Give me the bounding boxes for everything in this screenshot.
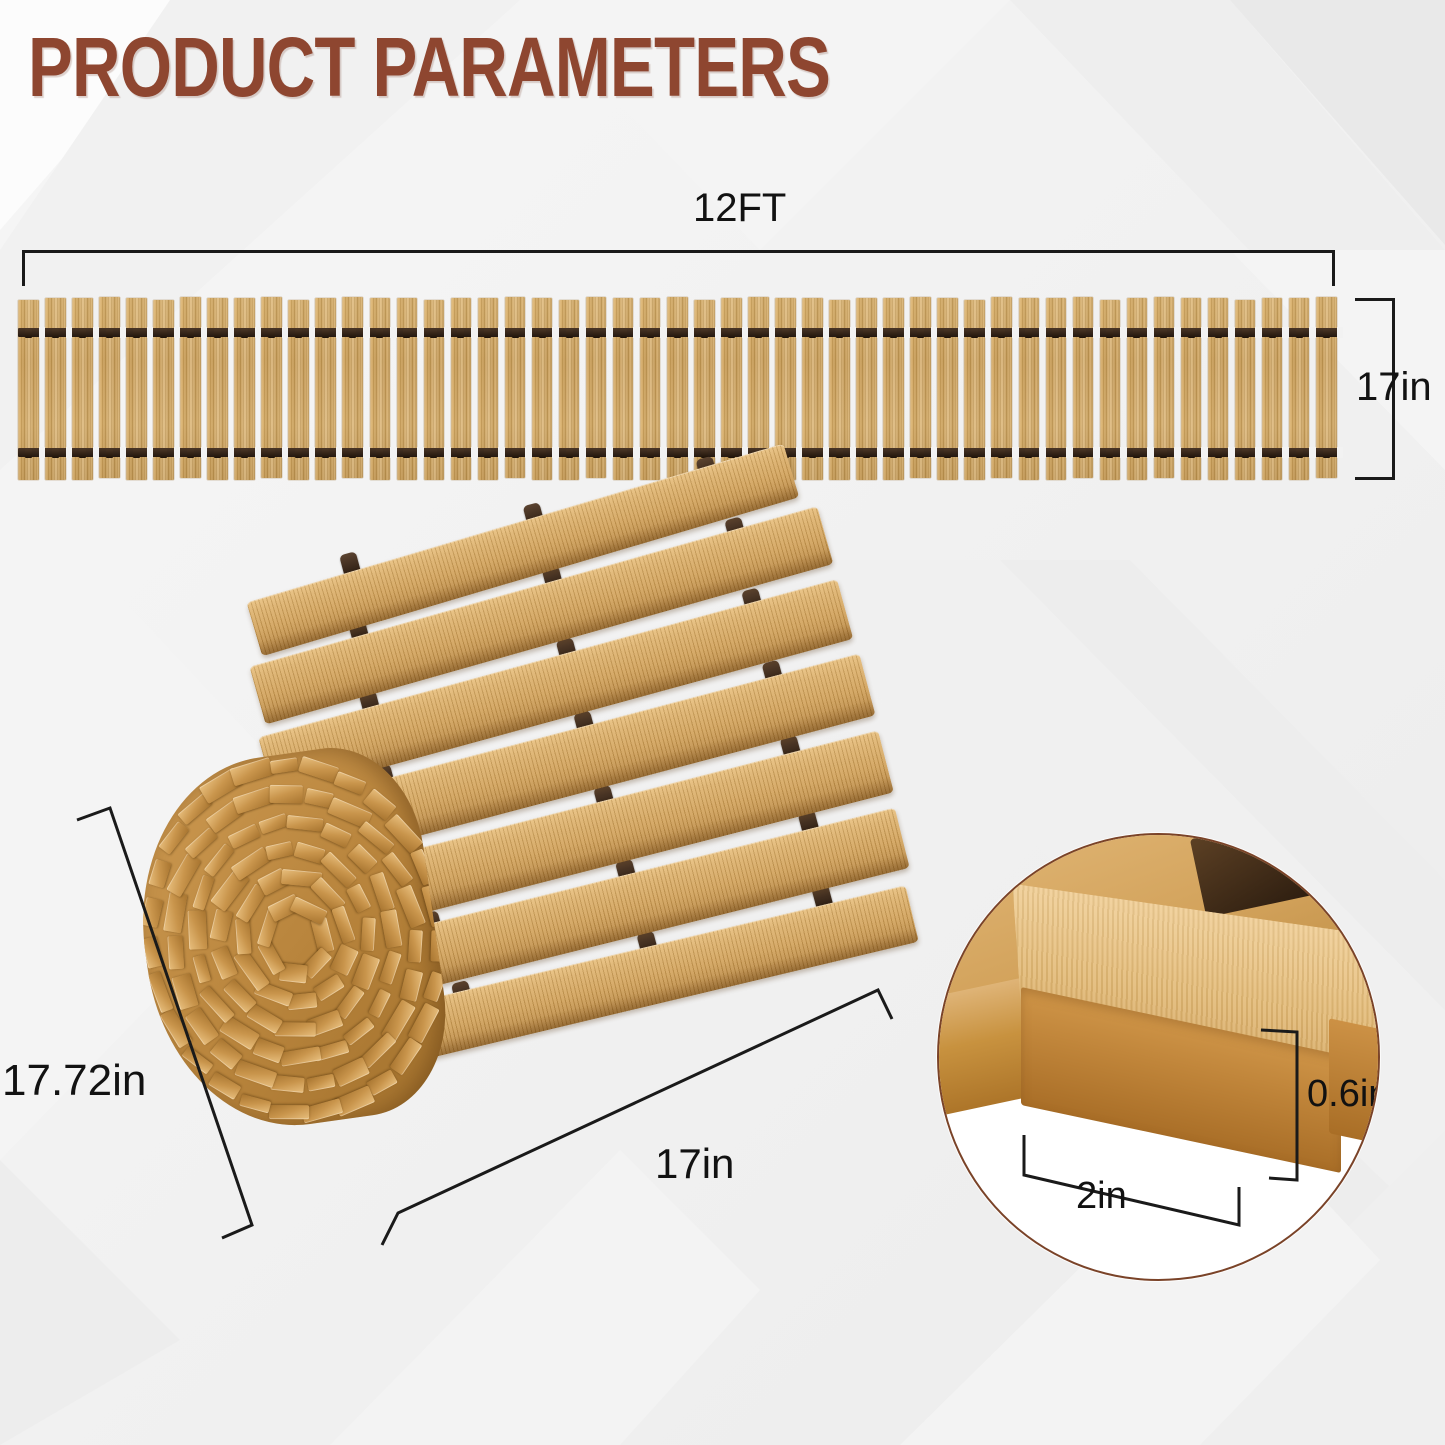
detail-inset-circle: 0.6in 2in [937, 833, 1380, 1281]
slat-connector-nub [1188, 449, 1195, 458]
slat-connector-nub [214, 329, 221, 338]
roll-height-label: 17.72in [2, 1056, 146, 1106]
spiral-slat-end [182, 1046, 214, 1075]
strap-gap [120, 327, 126, 338]
slat-thickness-dimension [939, 835, 1380, 1281]
strap-gap [201, 447, 207, 458]
slat-connector-nub [187, 449, 194, 458]
strap-gap [66, 327, 72, 338]
slat-connector-nub [1160, 449, 1167, 458]
strap-gap [904, 327, 910, 338]
spiral-slat-end [258, 813, 289, 835]
strap-gap [417, 447, 423, 458]
strap-gap [660, 327, 666, 338]
spiral-slat-end [304, 788, 333, 808]
slat-connector-nub [1296, 329, 1303, 338]
slat-connector-nub [1052, 329, 1059, 338]
slat-connector-nub [971, 329, 978, 338]
flat-mat-graphic [18, 298, 1343, 480]
spiral-slat-end [184, 827, 217, 858]
slat-connector-nub [593, 329, 600, 338]
slat-connector-nub [106, 329, 113, 338]
spiral-slat-end [233, 786, 275, 815]
strap-gap [742, 327, 748, 338]
slat-connector-nub [1079, 449, 1086, 458]
slat-connector-nub [512, 329, 519, 338]
spiral-slat-end [333, 1056, 370, 1086]
strap-gap [850, 447, 856, 458]
slat-connector-nub [79, 329, 86, 338]
slat-connector-nub [539, 449, 546, 458]
strap-gap [633, 447, 639, 458]
strap-gap [1228, 447, 1234, 458]
mat-length-tick-right [1332, 250, 1335, 286]
slat-connector-nub [809, 449, 816, 458]
strap-gap [282, 327, 288, 338]
strap-gap [498, 447, 504, 458]
strap-gap [606, 327, 612, 338]
slat-connector-nub [1160, 329, 1167, 338]
strap-gap [201, 327, 207, 338]
strap-gap [471, 447, 477, 458]
strap-gap [498, 327, 504, 338]
spiral-slat-end [347, 884, 372, 914]
slat-connector-nub [295, 449, 302, 458]
strap-gap [688, 447, 694, 458]
spiral-slat-end [289, 896, 327, 925]
slat-connector-nub [457, 329, 464, 338]
strap-gap [363, 447, 369, 458]
spiral-slat-end [167, 936, 184, 969]
slat-connector-nub [755, 329, 762, 338]
strap-gap [363, 327, 369, 338]
slat-connector-nub [890, 329, 897, 338]
slat-connector-nub [79, 449, 86, 458]
slat-connector-nub [1242, 449, 1249, 458]
strap-gap [579, 447, 585, 458]
spiral-slat-end [369, 871, 395, 911]
strap-gap [579, 327, 585, 338]
strap-gap [985, 327, 991, 338]
slat-connector-nub [133, 449, 140, 458]
spiral-slat-end [163, 892, 188, 933]
slat-connector-nub [52, 449, 59, 458]
strap-gap [309, 447, 315, 458]
strap-gap [255, 327, 261, 338]
slat-connector-nub [566, 449, 573, 458]
strap-gap [1120, 447, 1126, 458]
slat-connector-nub [322, 449, 329, 458]
mat-length-dimension-line [22, 250, 1335, 253]
slat-connector-nub [674, 449, 681, 458]
strap-gap [1201, 327, 1207, 338]
spiral-slat-end [148, 858, 171, 888]
strap-gap [228, 447, 234, 458]
spiral-slat-end [234, 1060, 277, 1088]
strap-gap [633, 327, 639, 338]
strap-gap [1147, 447, 1153, 458]
strap-gap [1039, 327, 1045, 338]
spiral-slat-end [368, 988, 391, 1018]
strap-gap [1093, 447, 1099, 458]
strap-gap [1120, 327, 1126, 338]
spiral-slat-end [240, 1093, 272, 1113]
strap-gap [336, 327, 342, 338]
slat-connector-nub [512, 449, 519, 458]
slat-connector-nub [133, 329, 140, 338]
slat-connector-nub [457, 449, 464, 458]
slat-connector-nub [187, 329, 194, 338]
strap-gap [715, 327, 721, 338]
slat-connector-nub [1323, 449, 1330, 458]
spiral-slat-end [209, 909, 233, 942]
strap-gap [525, 327, 531, 338]
strap-gap [471, 327, 477, 338]
strap-gap [309, 327, 315, 338]
slat-connector-nub [890, 449, 897, 458]
strap-gap [1228, 327, 1234, 338]
slat-connector-nub [1052, 449, 1059, 458]
spiral-slat-end [142, 936, 163, 968]
slat-connector-nub [674, 329, 681, 338]
slat-connector-nub [376, 329, 383, 338]
slat-connector-nub [782, 329, 789, 338]
slat-connector-nub [1079, 329, 1086, 338]
spiral-slat-end [148, 971, 174, 1013]
strap-gap [1093, 327, 1099, 338]
spiral-slat-end [268, 1105, 308, 1120]
strap-gap [147, 327, 153, 338]
strap-gap [688, 327, 694, 338]
slat-connector-nub [268, 449, 275, 458]
strap-gap [120, 447, 126, 458]
spiral-slat-end [298, 756, 339, 783]
mat-length-label: 12FT [693, 186, 786, 231]
slat-connector-nub [214, 449, 221, 458]
strap-gap [336, 447, 342, 458]
strap-gap [1309, 447, 1315, 458]
page-title-wrap: PRODUCT PARAMETERS [28, 28, 1030, 108]
slat-connector-nub [836, 329, 843, 338]
strap-gap [282, 447, 288, 458]
slat-connector-nub [944, 329, 951, 338]
spiral-slat-end [320, 823, 352, 849]
slat-connector-nub [25, 449, 32, 458]
spiral-slat-end [335, 986, 365, 1020]
slat-connector-nub [620, 449, 627, 458]
slat-thickness-label: 0.6in [1307, 1073, 1380, 1116]
spiral-slat-end [141, 897, 164, 928]
strap-gap [93, 447, 99, 458]
mat-length-tick-left [22, 250, 25, 286]
slat-connector-nub [376, 449, 383, 458]
strap-gap [390, 327, 396, 338]
slat-connector-nub [944, 449, 951, 458]
spiral-slat-end [269, 784, 302, 803]
strap-gap [93, 327, 99, 338]
slat-connector-nub [1242, 329, 1249, 338]
strap-gap [931, 447, 937, 458]
spiral-slat-end [193, 954, 212, 984]
slat-connector-nub [863, 449, 870, 458]
strap-gap [1282, 447, 1288, 458]
strap-gap [39, 327, 45, 338]
slat-connector-nub [430, 329, 437, 338]
spiral-slat-end [230, 757, 274, 786]
strap-gap [1201, 447, 1207, 458]
slat-connector-nub [620, 329, 627, 338]
spiral-slat-end [166, 853, 201, 897]
strap-gap [525, 447, 531, 458]
slat-connector-nub [349, 449, 356, 458]
spiral-slat-end [227, 823, 260, 848]
slat-connector-nub [1106, 329, 1113, 338]
strap-gap [147, 447, 153, 458]
strap-gap [823, 447, 829, 458]
strap-gap [444, 327, 450, 338]
slat-connector-nub [998, 449, 1005, 458]
strap-gap [1309, 327, 1315, 338]
slat-connector-nub [1106, 449, 1113, 458]
slat-connector-nub [403, 449, 410, 458]
spiral-slat-end [192, 875, 214, 911]
slat-connector-nub [484, 329, 491, 338]
strap-gap [1174, 447, 1180, 458]
page-title: PRODUCT PARAMETERS [28, 28, 830, 108]
spiral-slat-end [265, 841, 294, 861]
mat-width-tick-bottom [1355, 477, 1395, 480]
strap-gap [1147, 327, 1153, 338]
spiral-slat-end [333, 771, 367, 796]
rolled-mat-figure [135, 570, 925, 1210]
slat-connector-nub [566, 329, 573, 338]
slat-connector-nub [430, 449, 437, 458]
strap-gap [444, 447, 450, 458]
spiral-slat-end [306, 1074, 335, 1092]
spiral-slat-end [211, 946, 238, 980]
strap-gap [174, 447, 180, 458]
slat-connector-nub [971, 449, 978, 458]
mat-width-tick-top [1355, 298, 1395, 301]
slat-connector-nub [403, 329, 410, 338]
strap-gap [228, 327, 234, 338]
spiral-slat-end [270, 757, 299, 774]
slat-width-label: 2in [1076, 1175, 1127, 1218]
slat-connector-nub [863, 329, 870, 338]
strap-gap [1282, 327, 1288, 338]
spiral-slat-end [408, 929, 423, 962]
slat-connector-nub [701, 329, 708, 338]
slat-connector-nub [1215, 329, 1222, 338]
strap-gap [1174, 327, 1180, 338]
strap-gap [1012, 327, 1018, 338]
strap-gap [1066, 327, 1072, 338]
slat-connector-nub [1025, 449, 1032, 458]
spiral-slat-end [332, 905, 356, 944]
slat-connector-nub [836, 449, 843, 458]
spiral-slat-end [362, 918, 377, 952]
slat-connector-nub [1269, 329, 1276, 338]
slat-connector-nub [917, 329, 924, 338]
slat-connector-nub [809, 329, 816, 338]
slat-connector-nub [728, 449, 735, 458]
slat-connector-nub [295, 329, 302, 338]
slat-connector-nub [484, 449, 491, 458]
slat-connector-nub [998, 329, 1005, 338]
strap-gap [823, 327, 829, 338]
slat-connector-nub [106, 449, 113, 458]
spiral-slat-end [171, 972, 198, 1009]
spiral-slat-end [188, 910, 208, 950]
strap-gap [255, 447, 261, 458]
strap-gap [850, 327, 856, 338]
spiral-slat-end [204, 843, 235, 877]
slat-connector-nub [539, 329, 546, 338]
strap-gap [390, 447, 396, 458]
slat-connector-nub [728, 329, 735, 338]
spiral-slat-end [380, 951, 402, 985]
slat-connector-nub [241, 329, 248, 338]
strap-gap [66, 447, 72, 458]
slat-connector-nub [1025, 329, 1032, 338]
strap-gap [1012, 447, 1018, 458]
slat-connector-nub [268, 329, 275, 338]
strap-gap [769, 327, 775, 338]
strap-gap [660, 447, 666, 458]
mat-width-label: 17in [1356, 365, 1432, 410]
slat-connector-nub [52, 329, 59, 338]
spiral-slat-end [343, 1017, 375, 1046]
strap-gap [958, 327, 964, 338]
slat-connector-nub [1133, 329, 1140, 338]
spiral-slat-end [235, 918, 252, 954]
slat-connector-nub [322, 329, 329, 338]
strap-gap [931, 327, 937, 338]
strap-gap [1255, 327, 1261, 338]
spiral-slat-end [313, 974, 345, 1002]
slat-connector-nub [1133, 449, 1140, 458]
slat-connector-nub [593, 449, 600, 458]
strap-gap [1337, 447, 1343, 458]
slat-connector-nub [349, 329, 356, 338]
spiral-slat-end [208, 1072, 241, 1100]
strap-gap [877, 447, 883, 458]
roll-length-label: 17in [655, 1140, 734, 1188]
strap-gap [606, 447, 612, 458]
slat-connector-nub [647, 329, 654, 338]
strap-gap [904, 447, 910, 458]
spiral-slat-end [396, 884, 426, 928]
spiral-slat-end [280, 1047, 322, 1067]
strap-gap [552, 447, 558, 458]
strap-gap [39, 447, 45, 458]
slat-connector-nub [1323, 329, 1330, 338]
spiral-slat-end [380, 909, 403, 949]
strap-gap [1255, 447, 1261, 458]
strap-gap [417, 327, 423, 338]
slat-connector-nub [160, 329, 167, 338]
slat-connector-nub [1188, 329, 1195, 338]
slat-connector-nub [1215, 449, 1222, 458]
strap-gap [958, 447, 964, 458]
slat-connector-nub [917, 449, 924, 458]
slat-connector-nub [1269, 449, 1276, 458]
strap-gap [715, 447, 721, 458]
strap-gap [796, 327, 802, 338]
slat-connector-nub [647, 449, 654, 458]
strap-gap [174, 327, 180, 338]
strap-gap [1066, 447, 1072, 458]
strap-gap [1039, 447, 1045, 458]
strap-gap [1337, 327, 1343, 338]
spiral-slat-end [399, 968, 423, 1001]
slat-connector-nub [160, 449, 167, 458]
strap-gap [552, 327, 558, 338]
slat-connector-nub [25, 329, 32, 338]
slat-connector-nub [241, 449, 248, 458]
strap-gap [877, 327, 883, 338]
slat-connector-nub [1296, 449, 1303, 458]
strap-gap [985, 447, 991, 458]
spiral-slat-end [287, 815, 324, 831]
spiral-slat-end [347, 844, 378, 875]
